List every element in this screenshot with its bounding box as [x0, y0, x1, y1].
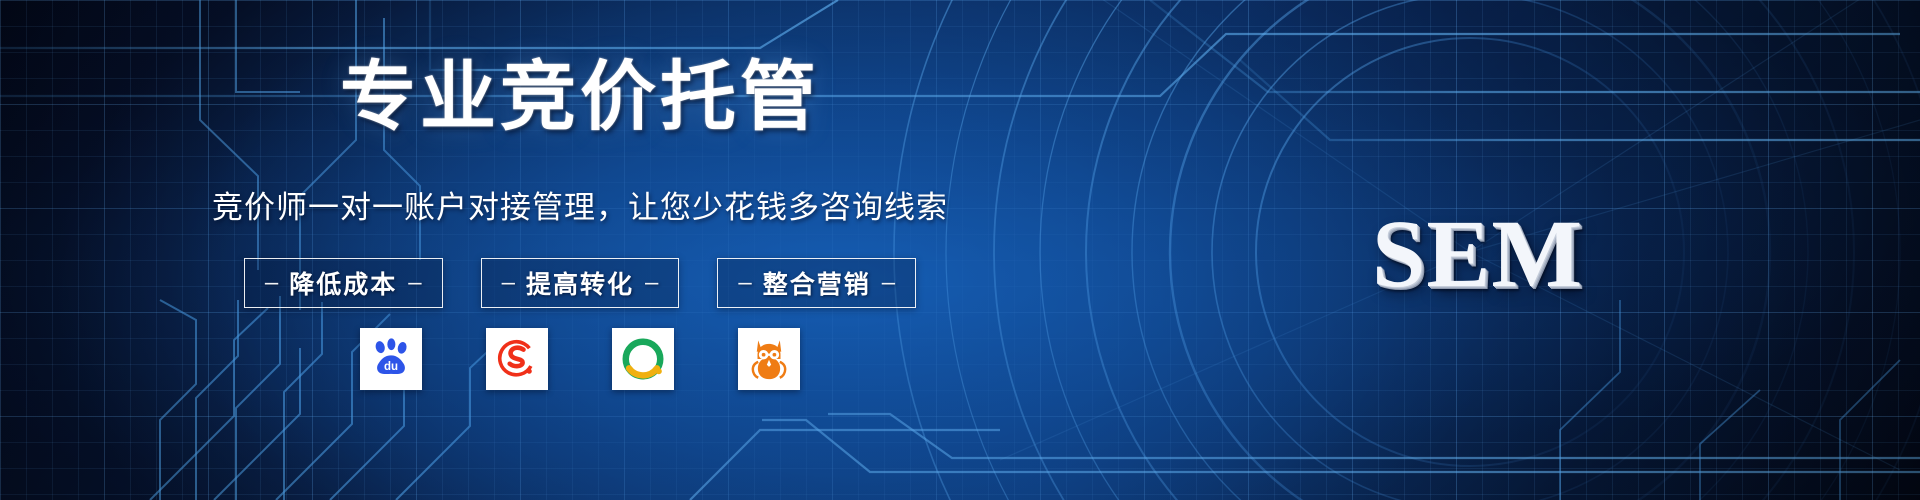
svg-text:du: du — [384, 361, 398, 373]
feature-tag-label: 提高转化 — [526, 265, 634, 301]
logo-tile-sogou[interactable] — [486, 328, 548, 390]
banner-content: 专业竞价托管 竞价师一对一账户对接管理，让您少花钱多咨询线索 – 降低成本 – … — [0, 0, 1160, 500]
logo-tile-baidu[interactable]: du — [360, 328, 422, 390]
shenma-logo-icon — [746, 336, 792, 382]
page-subtitle: 竞价师一对一账户对接管理，让您少花钱多咨询线索 — [0, 192, 1160, 223]
right-lower-trace-group — [1560, 300, 1900, 500]
dash-right-icon: – — [408, 269, 421, 297]
baidu-logo-icon: du — [368, 336, 414, 382]
so360-logo-icon — [620, 336, 666, 382]
feature-tag-improve-conversion[interactable]: – 提高转化 – — [481, 258, 680, 308]
feature-tag-list: – 降低成本 – – 提高转化 – – 整合营销 – — [0, 258, 1160, 308]
dash-left-icon: – — [738, 269, 751, 297]
dash-left-icon: – — [265, 269, 278, 297]
feature-tag-lower-cost[interactable]: – 降低成本 – — [244, 258, 443, 308]
sem-hosting-banner: 专业竞价托管 竞价师一对一账户对接管理，让您少花钱多咨询线索 – 降低成本 – … — [0, 0, 1920, 500]
dash-right-icon: – — [645, 269, 658, 297]
logo-tile-360-search[interactable] — [612, 328, 674, 390]
page-title: 专业竞价托管 — [0, 60, 1160, 136]
sem-wordmark: SEM — [1372, 206, 1583, 302]
logo-tile-shenma[interactable] — [738, 328, 800, 390]
feature-tag-label: 降低成本 — [289, 265, 397, 301]
sogou-logo-icon — [494, 336, 540, 382]
dash-right-icon: – — [882, 269, 895, 297]
feature-tag-integrated-marketing[interactable]: – 整合营销 – — [717, 258, 916, 308]
dash-left-icon: – — [502, 269, 515, 297]
search-engine-logo-list: du — [0, 328, 1160, 390]
feature-tag-label: 整合营销 — [763, 265, 871, 301]
